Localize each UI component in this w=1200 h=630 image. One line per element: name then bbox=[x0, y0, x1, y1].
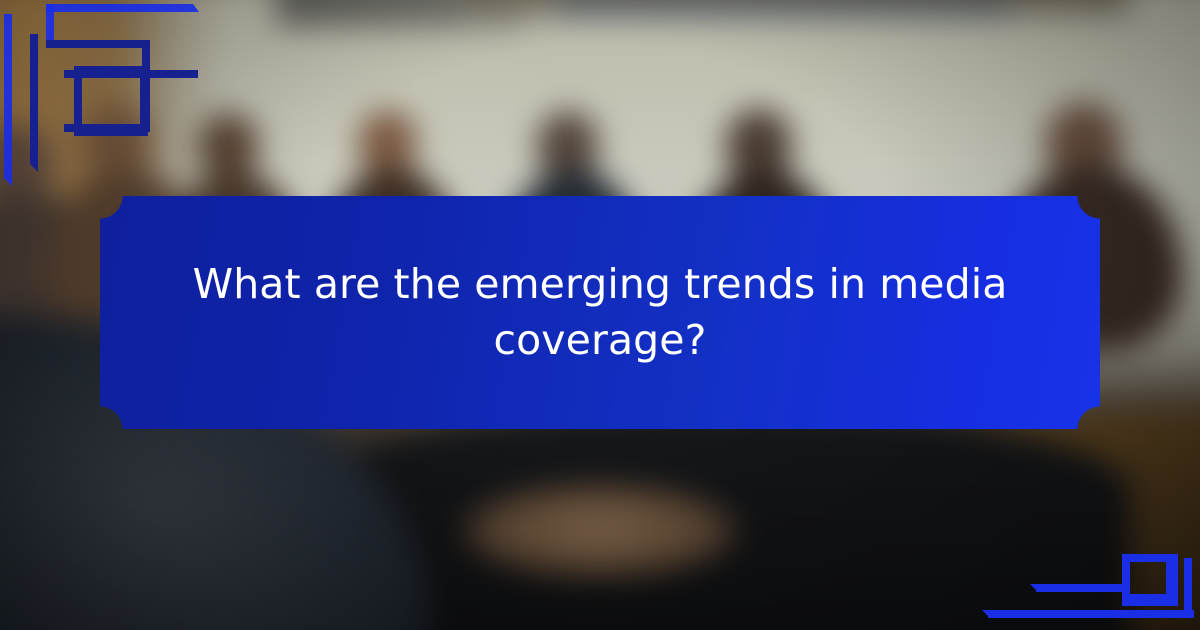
headline-card: What are the emerging trends in media co… bbox=[100, 196, 1100, 429]
headline-text: What are the emerging trends in media co… bbox=[100, 196, 1100, 429]
promo-card: What are the emerging trends in media co… bbox=[0, 0, 1200, 630]
